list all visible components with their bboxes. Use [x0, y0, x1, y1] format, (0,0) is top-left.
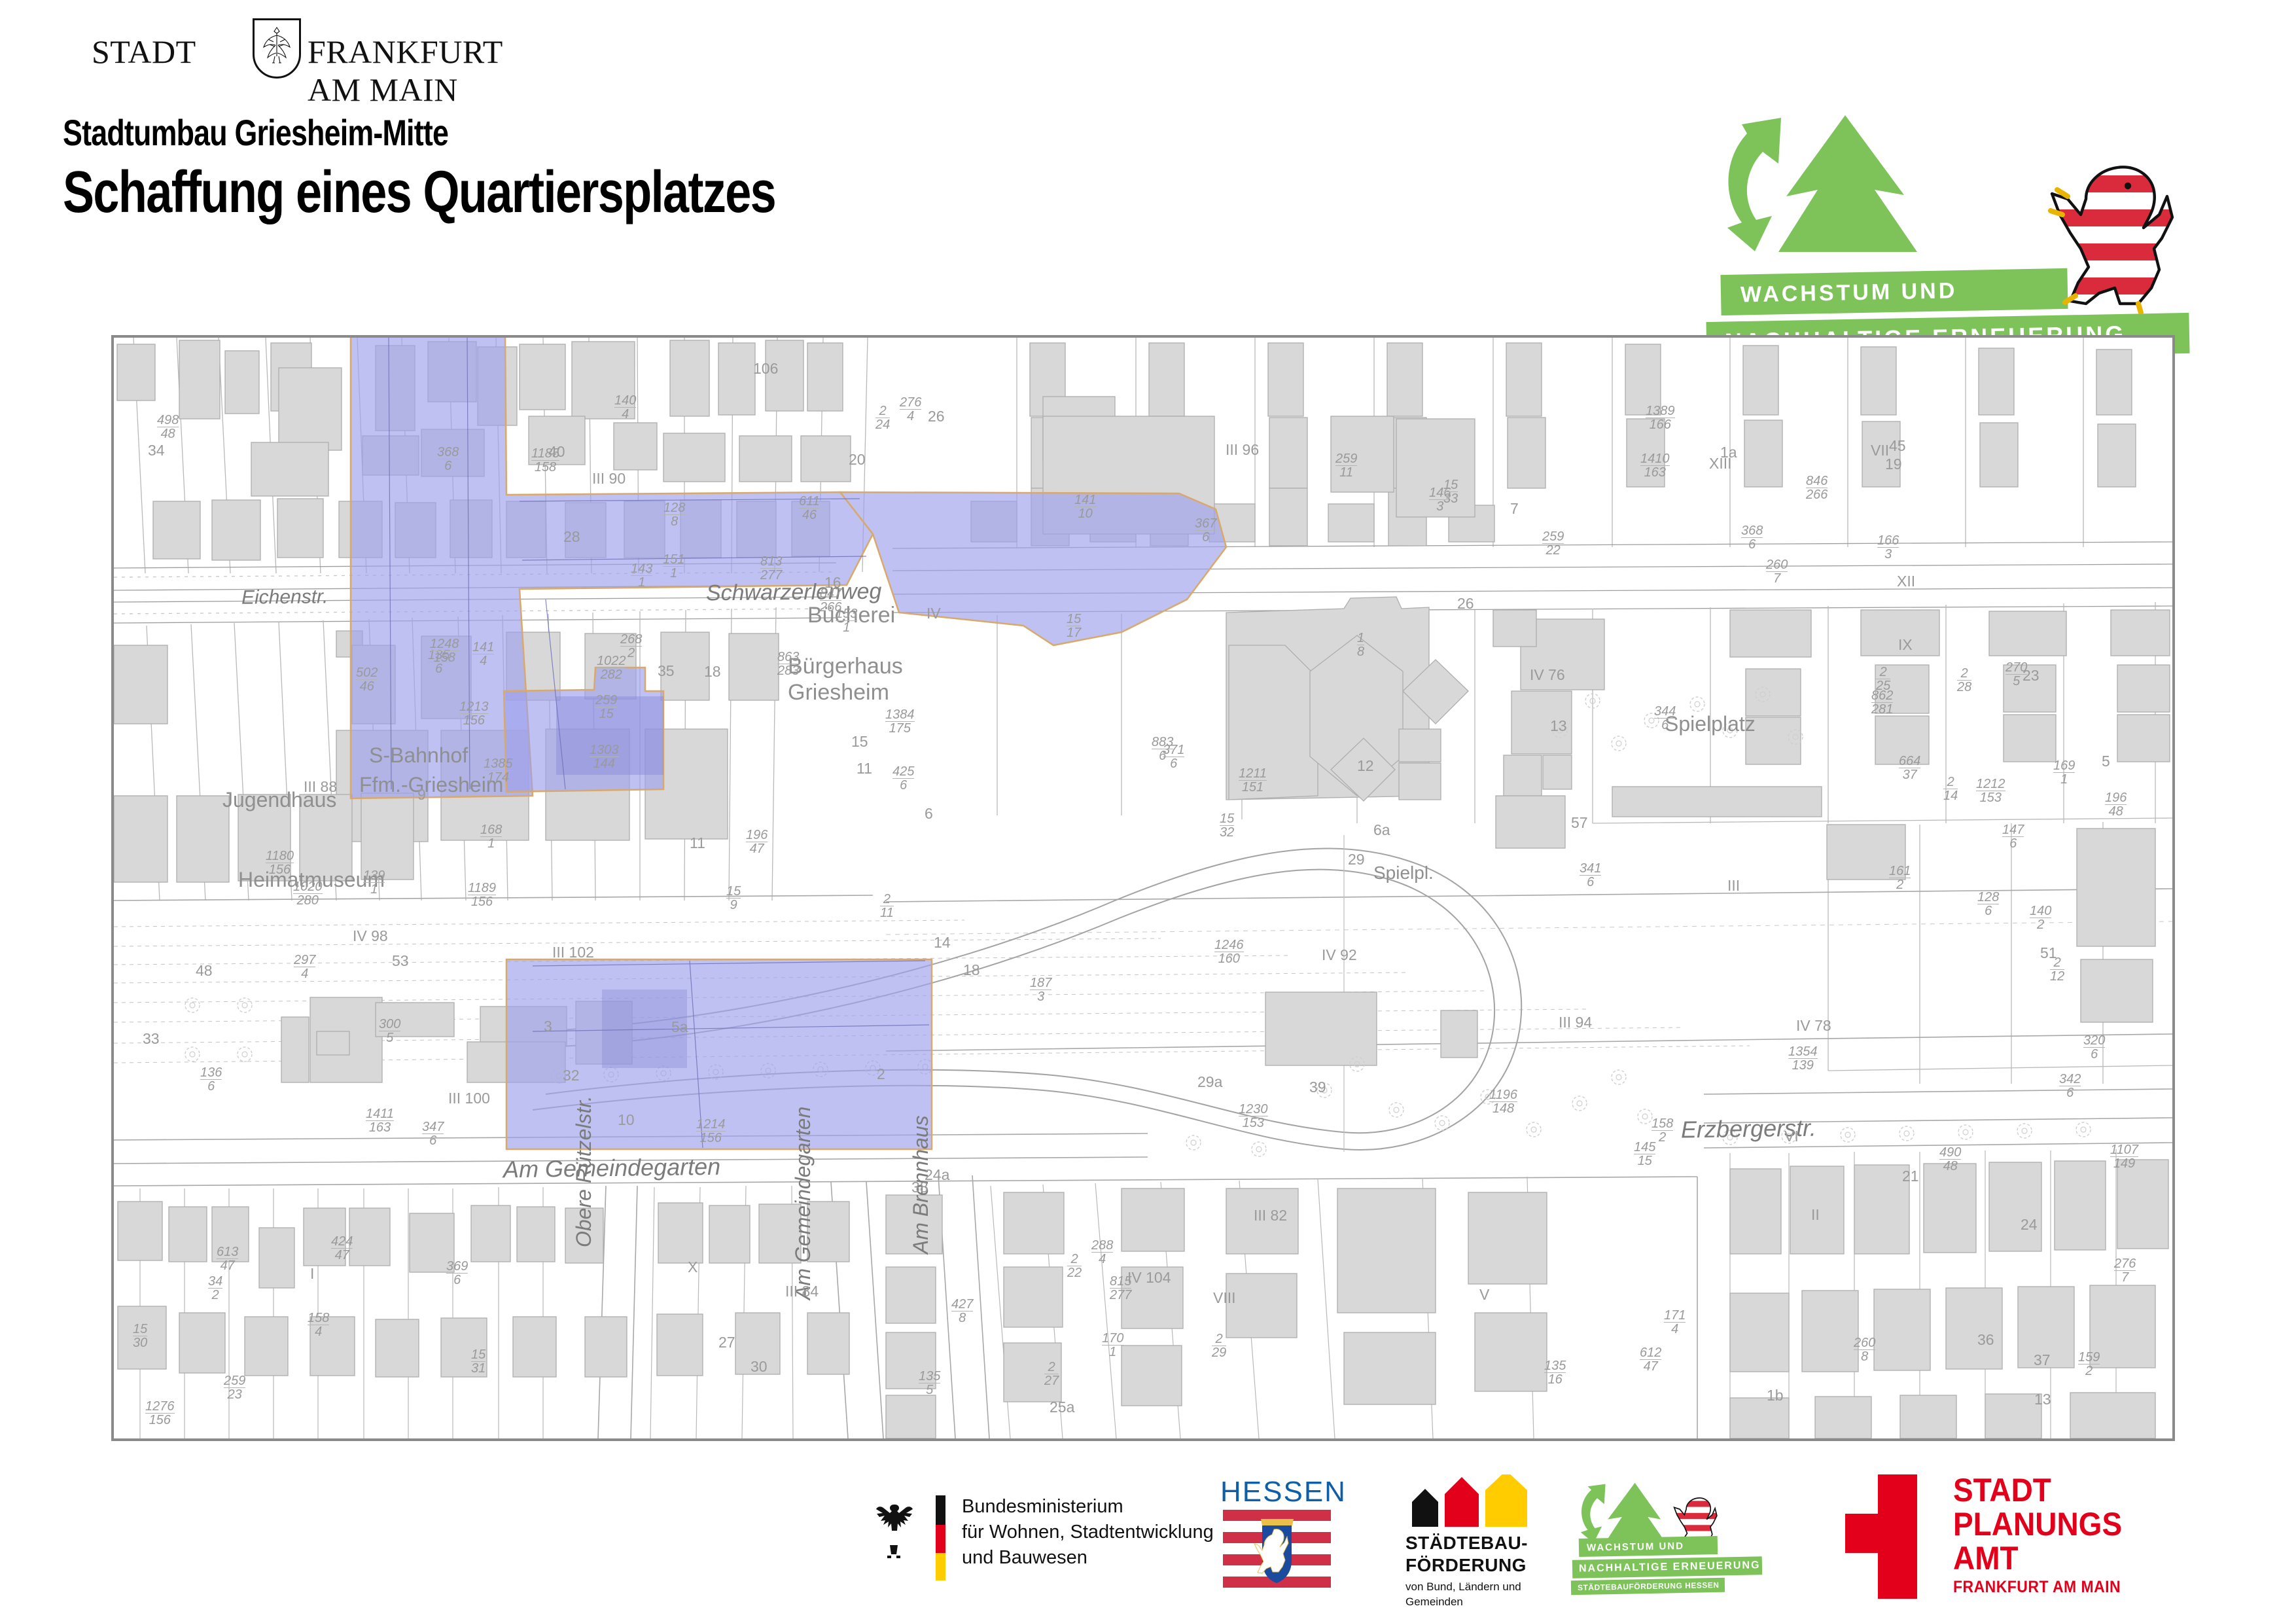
- parcel-number: 33: [143, 1032, 160, 1045]
- parcel-number: 61146: [799, 495, 820, 522]
- parcel-number: 15: [851, 735, 868, 748]
- parcel-number: 1107149: [2110, 1143, 2138, 1170]
- parcel-number: 28: [563, 530, 580, 543]
- parcel-number: 19647: [746, 829, 768, 855]
- parcel-number: 25915: [595, 694, 617, 721]
- parcel-number: 8836: [1152, 736, 1173, 762]
- parcel-number: III 102: [552, 946, 594, 959]
- parcel-number: 35: [658, 664, 675, 677]
- parcel-number: 1402: [2030, 904, 2051, 931]
- parcel-number: 6a: [1373, 823, 1390, 836]
- parcel-number: 863283: [777, 651, 799, 677]
- parcel-number: 3446: [1654, 705, 1676, 732]
- parcel-number: 2608: [1854, 1336, 1875, 1363]
- parcel-number: 48: [196, 964, 213, 977]
- parcel-number: 2607: [1766, 558, 1788, 585]
- parcel-number: X: [688, 1260, 698, 1274]
- cadastral-map[interactable]: Eichenstr. Schwarzerlenweg Am Gemeindega…: [111, 335, 2175, 1441]
- sbf-sub1: von Bund, Ländern und: [1405, 1579, 1521, 1594]
- parcel-number: 3416: [1580, 862, 1601, 889]
- parcel-number: 10: [618, 1113, 635, 1126]
- spa-line3: AMT: [1953, 1541, 2122, 1575]
- parcel-number: 1592: [2078, 1351, 2100, 1378]
- parcel-number: VII: [1871, 444, 1889, 457]
- parcel-number: 57: [1571, 816, 1588, 829]
- parcel-number: III: [1727, 879, 1740, 892]
- parcel-number: III 88: [304, 780, 337, 793]
- parcel-number: 342: [208, 1275, 222, 1302]
- parcel-number: 815277: [1110, 1275, 1131, 1302]
- city-logo-word-frankfurt: FRANKFURT AM MAIN: [308, 33, 510, 109]
- page-header: STADT FR: [0, 0, 2296, 327]
- parcel-number: 1230153: [1239, 1103, 1268, 1130]
- sbf-sub2: Gemeinden: [1405, 1594, 1521, 1609]
- parcel-number: III 94: [1559, 1016, 1592, 1029]
- parcel-number: 29a: [1197, 1075, 1222, 1088]
- parcel-number: 1582: [1651, 1117, 1673, 1144]
- parcel-number: 6: [925, 807, 933, 820]
- parcel-number: 1404: [614, 394, 636, 421]
- parcel-number: 61347: [217, 1245, 238, 1272]
- parcel-number: 12: [1357, 759, 1374, 772]
- parcel-number: 159: [726, 885, 741, 912]
- bmwsb-logo: Bundesministerium für Wohnen, Stadtentwi…: [870, 1481, 1237, 1579]
- parcel-number: 42447: [331, 1235, 353, 1262]
- parcel-number: 1714: [1664, 1309, 1686, 1336]
- parcel-number: 2764: [900, 396, 921, 423]
- parcel-number: XII: [1897, 575, 1915, 588]
- parcel-number: 1276156: [145, 1400, 175, 1427]
- parcel-number: 3686: [1741, 524, 1763, 551]
- parcel-number: 39: [1309, 1080, 1326, 1094]
- parcel-number: 49048: [1939, 1146, 1961, 1173]
- parcel-number: 1189156: [468, 882, 496, 908]
- parcel-number: 61247: [1640, 1346, 1661, 1373]
- parcel-number: 3686: [437, 446, 459, 473]
- parcel-number: 3005: [379, 1018, 400, 1044]
- parcel-number: 1303144: [590, 743, 619, 770]
- parcel-number: 4256: [892, 765, 914, 792]
- street-label-eichenstr: Eichenstr.: [241, 586, 328, 609]
- hessen-logo: HESSEN: [1220, 1476, 1351, 1587]
- parcel-number: 37: [2034, 1353, 2051, 1366]
- parcel-number: IV: [927, 607, 941, 620]
- parcel-number: 14: [934, 936, 951, 949]
- parcel-number: 13: [1550, 719, 1567, 732]
- street-label-obere-ruetzelstr: Obere Rützelstr.: [572, 1096, 596, 1247]
- parcel-number: 1366: [200, 1066, 222, 1093]
- parcel-number: 18: [704, 665, 721, 678]
- parcel-number: 1701: [1102, 1332, 1123, 1359]
- parcel-number: 36: [1977, 1333, 1994, 1346]
- parcel-number: 228: [1957, 667, 1971, 694]
- parcel-number: 53: [392, 954, 409, 967]
- parcel-number: 26: [928, 410, 945, 423]
- parcel-number: III 96: [1226, 443, 1259, 456]
- parcel-number: 1511: [663, 553, 684, 580]
- funding-logo-strip: Bundesministerium für Wohnen, Stadtentwi…: [0, 1469, 2296, 1623]
- parcel-number: 50246: [356, 666, 378, 693]
- program-small-line2: NACHHALTIGE ERNEUERUNG: [1572, 1556, 1762, 1578]
- place-label-s-bahnhof: S-Bahnhof: [369, 743, 468, 768]
- city-logo-word-stadt: STADT: [92, 33, 196, 71]
- bmwsb-line3: und Bauwesen: [962, 1545, 1214, 1571]
- parcel-number: 227: [1044, 1361, 1059, 1387]
- bundesadler-icon: [870, 1499, 917, 1558]
- parcel-number: 38: [911, 1181, 928, 1194]
- parcel-number: 1681: [480, 823, 502, 850]
- parcel-number: 212: [2050, 956, 2064, 983]
- sbf-line1: STÄDTEBAU-: [1405, 1532, 1528, 1554]
- parcel-number: 847266: [820, 587, 841, 614]
- program-small-line3: STÄDTEBAUFÖRDERUNG HESSEN: [1571, 1578, 1725, 1596]
- place-label-spielpl: Spielpl.: [1373, 863, 1434, 883]
- parcel-number: 21: [1902, 1169, 1919, 1183]
- parcel-number: III 100: [448, 1092, 490, 1105]
- parcel-number: 1663: [1877, 534, 1899, 561]
- three-houses-icon: [1407, 1474, 1538, 1527]
- place-label-ffm-griesheim: Ffm.-Griesheim: [359, 773, 503, 797]
- parcel-number: 5: [2102, 755, 2110, 768]
- staedtebaufoerderung-logo: STÄDTEBAU- FÖRDERUNG von Bund, Ländern u…: [1400, 1474, 1597, 1612]
- parcel-number: 29: [1348, 853, 1365, 866]
- parcel-number: 13: [2034, 1393, 2051, 1406]
- parcel-number: 224: [875, 404, 890, 431]
- street-label-am-gemeindegarten: Am Gemeindegarten: [503, 1153, 721, 1184]
- parcel-number: 24: [2021, 1218, 2038, 1231]
- parcel-number: 1385174: [484, 757, 513, 784]
- stadtplanungsamt-text: STADT PLANUNGS AMT: [1953, 1473, 2122, 1575]
- bmwsb-text: Bundesministerium für Wohnen, Stadtentwi…: [962, 1494, 1214, 1571]
- eagle-glyph: [262, 25, 292, 67]
- parcel-number: 1691: [2053, 759, 2075, 786]
- parcel-number: 34: [148, 444, 165, 457]
- parcel-number: 2: [877, 1067, 885, 1080]
- parcel-number: 1248158: [430, 637, 459, 664]
- parcel-number: 1213156: [459, 700, 489, 727]
- parcel-number: 18: [1357, 632, 1364, 658]
- parcel-number: 24a: [925, 1168, 949, 1181]
- parcel-number: 1431: [631, 562, 652, 589]
- parcel-number: 5a: [671, 1020, 688, 1033]
- parcel-number: 1211151: [1239, 767, 1267, 794]
- sbf-title: STÄDTEBAU- FÖRDERUNG: [1405, 1532, 1528, 1577]
- parcel-number: IV 78: [1796, 1019, 1831, 1032]
- parcel-number: 1b: [1767, 1389, 1784, 1402]
- parcel-number: 222: [1067, 1253, 1082, 1279]
- parcel-number: IV 76: [1530, 668, 1565, 681]
- parcel-number: 1214156: [696, 1118, 726, 1145]
- stadtplanungsamt-logo: STADT PLANUNGS AMT FRANKFURT AM MAIN: [1832, 1474, 2199, 1605]
- parcel-number: 25923: [224, 1374, 245, 1401]
- parcel-number: IV 104: [1127, 1271, 1171, 1284]
- parcel-number: IV 92: [1322, 948, 1357, 961]
- parcel-number: 32: [563, 1069, 580, 1082]
- parcel-number: 11: [857, 762, 872, 775]
- parcel-number: 1354139: [1788, 1045, 1818, 1072]
- parcel-number: 3696: [446, 1260, 468, 1287]
- parcel-number: 1212153: [1976, 777, 2005, 804]
- parcel-number: 49848: [157, 414, 179, 440]
- parcel-number: 2682: [620, 633, 642, 660]
- spa-line2: PLANUNGS: [1953, 1507, 2122, 1541]
- parcel-number: IV 98: [353, 929, 388, 942]
- parcel-number: 13516: [1544, 1359, 1566, 1386]
- parcel-number: 11: [690, 836, 705, 849]
- project-subtitle: Stadtumbau Griesheim-Mitte: [63, 111, 448, 154]
- parcel-number: 2884: [1091, 1239, 1113, 1266]
- parcel-number: 846266: [1806, 474, 1828, 501]
- parcel-number: I: [310, 1267, 314, 1280]
- parcel-number: 25922: [1542, 530, 1564, 557]
- parcel-number: 14515: [1634, 1141, 1655, 1168]
- parcel-number: 813277: [760, 555, 782, 582]
- parcel-number: 20: [849, 453, 866, 466]
- hessen-lion-icon: [2041, 157, 2185, 314]
- parcel-number: VI: [1784, 1130, 1799, 1143]
- parcel-number: 2974: [294, 954, 315, 980]
- parcel-number: II: [1811, 1208, 1820, 1221]
- parcel-number: 3476: [422, 1120, 444, 1147]
- parcel-number: XIII: [1709, 457, 1732, 470]
- page-title: Schaffung eines Quartiersplatzes: [63, 159, 775, 226]
- parcel-number: 3426: [2059, 1073, 2081, 1099]
- parcel-number: 30: [751, 1360, 768, 1373]
- parcel-number: 23: [2022, 669, 2040, 682]
- parcel-number: 1410163: [1640, 452, 1670, 479]
- parcel-number: 40: [548, 445, 565, 458]
- parcel-number: 3676: [1195, 517, 1216, 544]
- parcel-number: 106: [753, 362, 778, 375]
- bmwsb-line2: für Wohnen, Stadtentwicklung: [962, 1520, 1214, 1545]
- place-label-buergerhaus: Bürgerhaus: [788, 654, 903, 679]
- parcel-number: III 90: [592, 472, 626, 485]
- parcel-number: III 82: [1254, 1209, 1287, 1222]
- parcel-number: 19: [1885, 457, 1902, 471]
- program-logo-line1: WACHSTUM UND: [1720, 268, 2068, 315]
- parcel-number: 1533: [1443, 478, 1458, 505]
- parcel-number: VIII: [1213, 1291, 1236, 1304]
- parcel-number: 1389166: [1646, 404, 1675, 431]
- parcel-number: 1414: [472, 641, 494, 668]
- parcel-number: 14110: [1074, 493, 1096, 520]
- parcel-number: 19648: [2105, 791, 2127, 818]
- parcel-number: 1531: [471, 1348, 486, 1375]
- parcel-number: 1530: [133, 1323, 147, 1349]
- parcel-number: V: [1479, 1288, 1489, 1301]
- spa-line1: STADT: [1953, 1473, 2122, 1507]
- parcel-number: IX: [1898, 638, 1913, 651]
- parcel-number: 2767: [2114, 1257, 2136, 1284]
- parcel-number: 1288: [663, 501, 685, 528]
- parcel-number: 211: [880, 893, 894, 919]
- parcel-number: 7: [1510, 502, 1519, 515]
- parcel-number: 18: [963, 963, 980, 976]
- parcel-number: 1196148: [1489, 1088, 1517, 1115]
- parcel-number: 1246160: [1214, 938, 1244, 965]
- parcel-number: III 84: [785, 1285, 819, 1298]
- parcel-number: 1873: [1030, 976, 1051, 1003]
- parcel-number: 1391: [363, 869, 385, 896]
- frankfurt-eagle-crest-icon: [253, 18, 301, 79]
- parcel-number: 1355: [919, 1370, 940, 1397]
- parcel-number: 1020280: [293, 880, 323, 907]
- city-of-frankfurt-logo: STADT FR: [92, 20, 510, 82]
- bmwsb-line1: Bundesministerium: [962, 1494, 1214, 1520]
- parcel-number: 1180156: [266, 849, 294, 876]
- parcel-number: 214: [1943, 776, 1958, 802]
- parcel-number: 1584: [308, 1311, 329, 1338]
- parcel-number: 1286: [1977, 891, 1999, 918]
- parcel-number: 229: [1212, 1332, 1226, 1359]
- parcel-number: 3206: [2083, 1034, 2105, 1061]
- parcel-number: 25911: [1335, 452, 1357, 479]
- parcel-number: 1411163: [366, 1107, 394, 1134]
- place-label-griesheim: Griesheim: [788, 680, 889, 705]
- bundesadler-glyph: [870, 1499, 917, 1558]
- parcel-number: 1517: [1067, 613, 1081, 639]
- hessen-coat-of-arms-icon: [1223, 1510, 1331, 1588]
- program-small-line1: WACHSTUM UND: [1579, 1536, 1718, 1557]
- parcel-number: 45: [1889, 439, 1906, 452]
- parcel-number: 9: [417, 788, 426, 801]
- german-flag-bar: [936, 1495, 945, 1580]
- parcel-number: 1476: [2002, 823, 2024, 850]
- parcel-number: 1612: [1889, 865, 1911, 891]
- parcel-number: 66437: [1899, 755, 1920, 781]
- parcel-number: 4278: [951, 1298, 973, 1325]
- parcel-number: 27: [718, 1336, 735, 1349]
- parcel-number: 1532: [1220, 812, 1234, 839]
- parcel-number: 1384175: [885, 708, 915, 735]
- sbf-line2: FÖRDERUNG: [1405, 1554, 1528, 1577]
- place-label-spielplatz: Spielplatz: [1665, 712, 1756, 736]
- parcel-number: 25a: [1050, 1400, 1074, 1414]
- parcel-number: 3: [544, 1020, 552, 1033]
- parcel-number: 862281: [1871, 689, 1893, 716]
- parcel-number: 26: [1457, 597, 1474, 610]
- program-logo-small: WACHSTUM UND NACHHALTIGE ERNEUERUNG STÄD…: [1574, 1481, 1790, 1605]
- street-label-am-gemeindegarten-vertical: Am Gemeindegarten: [791, 1107, 815, 1300]
- sbf-subtitle: von Bund, Ländern und Gemeinden: [1405, 1579, 1521, 1609]
- stadtplanungsamt-mark-icon: [1832, 1474, 1937, 1599]
- hessen-label: HESSEN: [1220, 1476, 1351, 1508]
- spa-subtitle: FRANKFURT AM MAIN: [1953, 1578, 2121, 1597]
